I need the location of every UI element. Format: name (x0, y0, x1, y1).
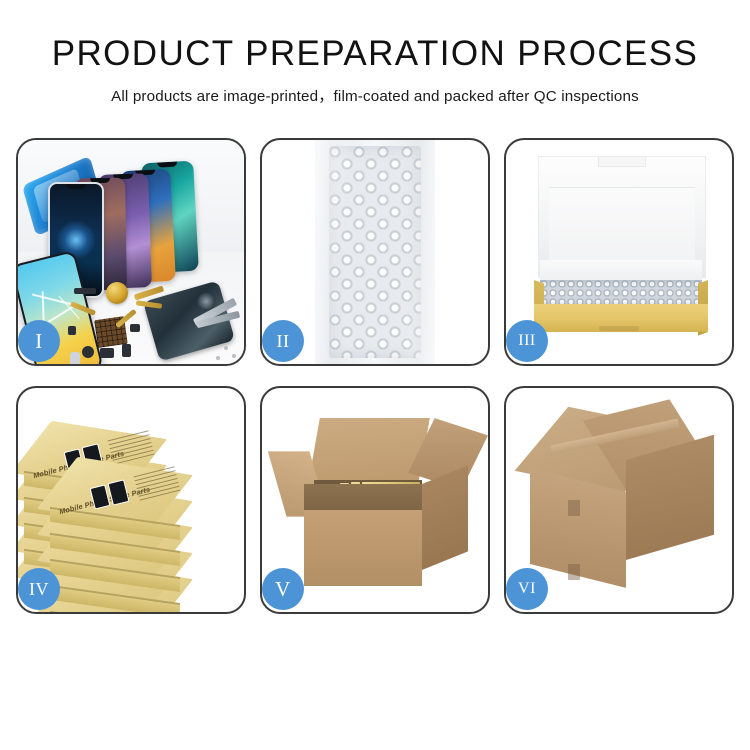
spare-part-icon (82, 346, 94, 358)
carton-right-face-icon (422, 465, 468, 570)
carton-back-flap-icon (308, 418, 430, 484)
screw-icon (232, 354, 236, 358)
process-step-6: VI (504, 386, 734, 614)
phone-notch-icon (66, 184, 86, 189)
step-4-numeral-badge: IV (18, 568, 60, 610)
process-step-grid: I II (0, 138, 750, 614)
spare-part-icon (68, 326, 76, 335)
screw-icon (216, 356, 220, 360)
step-5-numeral-badge: V (262, 568, 304, 610)
carton-front-face-icon (304, 510, 422, 586)
process-step-1: I (16, 138, 246, 366)
spare-part-icon (122, 344, 131, 357)
bubble-pattern-icon (329, 146, 421, 358)
box-front-notch-icon (599, 326, 639, 331)
carton-hand-hole-icon (568, 500, 580, 516)
process-step-3: III (504, 138, 734, 366)
bubble-wrapped-contents-icon (540, 280, 702, 306)
page-title: PRODUCT PREPARATION PROCESS (0, 36, 750, 73)
speaker-coil-icon (106, 282, 128, 304)
screw-icon (224, 346, 228, 350)
step-3-numeral-badge: III (506, 320, 548, 362)
spare-part-icon (70, 352, 80, 364)
process-step-4: Mobile Phone Spare Parts (16, 386, 246, 614)
bubble-wrap-sleeve-icon (315, 140, 435, 364)
spare-part-icon (130, 324, 140, 332)
page-header: PRODUCT PREPARATION PROCESS All products… (0, 0, 750, 106)
phone-notch-icon (157, 162, 177, 168)
step-1-numeral-badge: I (18, 320, 60, 362)
spare-part-icon (74, 288, 96, 294)
box-lid-tab-icon (598, 157, 646, 167)
page-subtitle: All products are image-printed，film-coat… (0, 84, 750, 106)
step-2-numeral-badge: II (262, 320, 304, 362)
step-6-numeral-badge: VI (506, 568, 548, 610)
process-step-2: II (260, 138, 490, 366)
spare-part-icon (100, 348, 114, 358)
carton-hand-hole-icon (568, 564, 580, 580)
process-step-5: V (260, 386, 490, 614)
